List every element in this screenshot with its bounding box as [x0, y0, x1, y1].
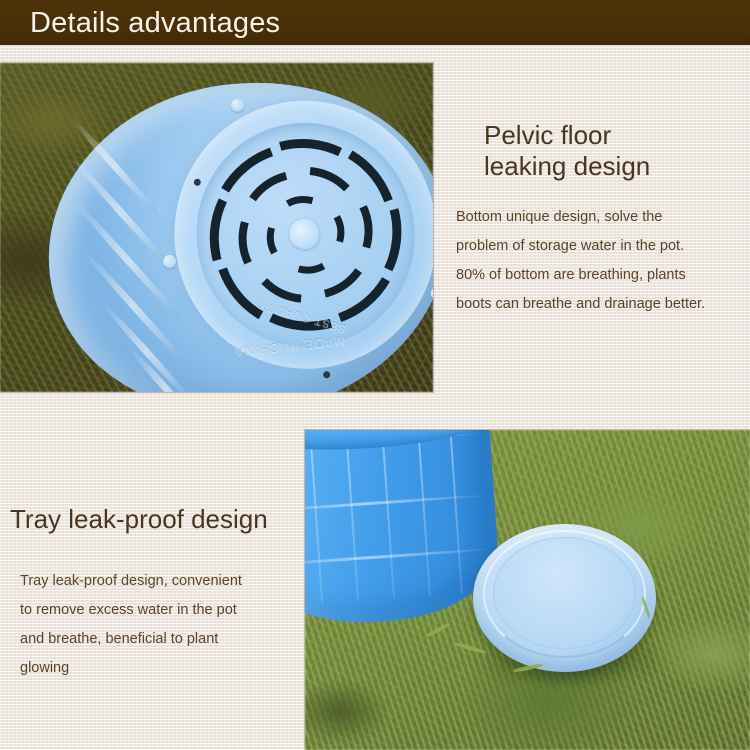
photo-pot-with-tray	[305, 430, 750, 750]
section-heading-tray-leak-proof: Tray leak-proof design	[10, 504, 268, 535]
product-detail-page: Details advantages	[0, 0, 750, 750]
page-title: Details advantages	[30, 6, 280, 40]
section-header-bar: Details advantages	[0, 0, 750, 45]
photo-pot-drainage-base: MADE IN CHINA BEST QUALITY	[0, 63, 433, 392]
section-body-tray-leak-proof: Tray leak-proof design, convenient to re…	[20, 567, 295, 683]
tray-inner-disc	[493, 537, 636, 649]
pot-upside-down: MADE IN CHINA BEST QUALITY	[22, 63, 433, 392]
section-heading-pelvic-floor: Pelvic floor leaking design	[484, 120, 650, 182]
section-body-pelvic-floor: Bottom unique design, solve the problem …	[456, 203, 750, 319]
